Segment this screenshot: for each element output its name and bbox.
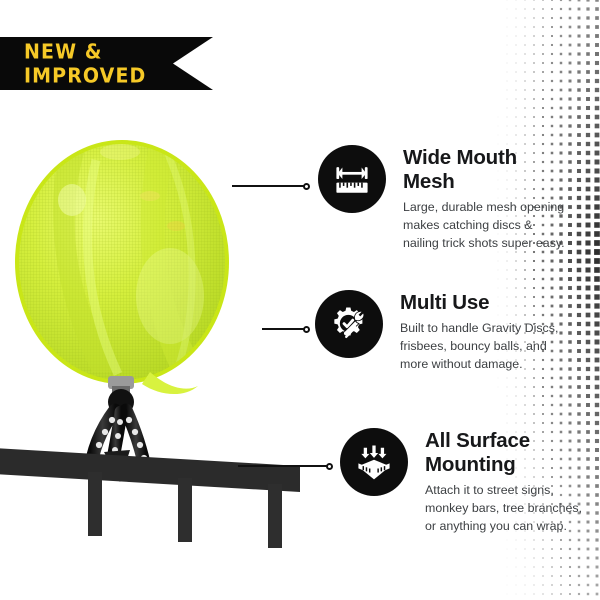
new-and-improved-banner: NEW & IMPROVED bbox=[0, 37, 213, 90]
layered-surface-arrows-icon bbox=[340, 428, 408, 496]
connector-line-multi-use bbox=[262, 324, 310, 334]
feature-wide-mouth-mesh: Wide Mouth Mesh Large, durable mesh open… bbox=[318, 145, 571, 253]
connector-endpoint-dot bbox=[326, 463, 333, 470]
feature-description: Large, durable mesh opening makes catchi… bbox=[403, 198, 571, 253]
ruler-measure-icon bbox=[318, 145, 386, 213]
connector-line-wide-mouth-mesh bbox=[232, 181, 310, 191]
feature-all-surface-mounting: All Surface Mounting Attach it to street… bbox=[340, 428, 593, 536]
connector-stroke bbox=[238, 465, 327, 467]
feature-multi-use: Multi Use Built to handle Gravity Discs,… bbox=[315, 290, 568, 374]
feature-title: Wide Mouth Mesh bbox=[403, 146, 553, 194]
connector-endpoint-dot bbox=[303, 183, 310, 190]
feature-text-block: Wide Mouth Mesh Large, durable mesh open… bbox=[403, 145, 571, 253]
feature-description: Built to handle Gravity Discs, frisbees,… bbox=[400, 319, 568, 374]
mesh-catch-net bbox=[17, 142, 227, 394]
gear-wrench-check-icon bbox=[315, 290, 383, 358]
connector-stroke bbox=[232, 185, 304, 187]
feature-title: All Surface Mounting bbox=[425, 429, 575, 477]
feature-text-block: All Surface Mounting Attach it to street… bbox=[425, 428, 593, 536]
product-image bbox=[0, 100, 300, 570]
connector-line-all-surface-mounting bbox=[238, 461, 333, 471]
connector-stroke bbox=[262, 328, 304, 330]
feature-title: Multi Use bbox=[400, 291, 550, 315]
feature-description: Attach it to street signs, monkey bars, … bbox=[425, 481, 593, 536]
connector-endpoint-dot bbox=[303, 326, 310, 333]
feature-text-block: Multi Use Built to handle Gravity Discs,… bbox=[400, 290, 568, 374]
